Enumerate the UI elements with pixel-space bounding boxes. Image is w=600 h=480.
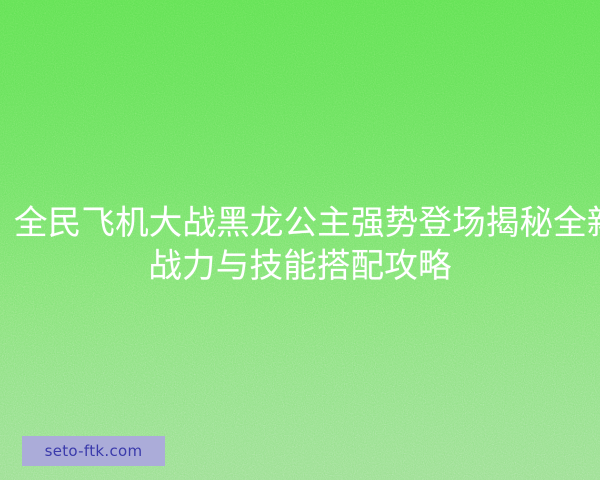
watermark-badge: seto-ftk.com (22, 436, 165, 466)
headline-line-1: 全民飞机大战黑龙公主强势登场揭秘全新 (14, 201, 586, 244)
headline-line-2: 战力与技能搭配攻略 (14, 244, 586, 287)
headline: 全民飞机大战黑龙公主强势登场揭秘全新 战力与技能搭配攻略 (0, 201, 600, 287)
poster-canvas: 全民飞机大战黑龙公主强势登场揭秘全新 战力与技能搭配攻略 seto-ftk.co… (0, 0, 600, 480)
watermark-label: seto-ftk.com (45, 444, 143, 459)
